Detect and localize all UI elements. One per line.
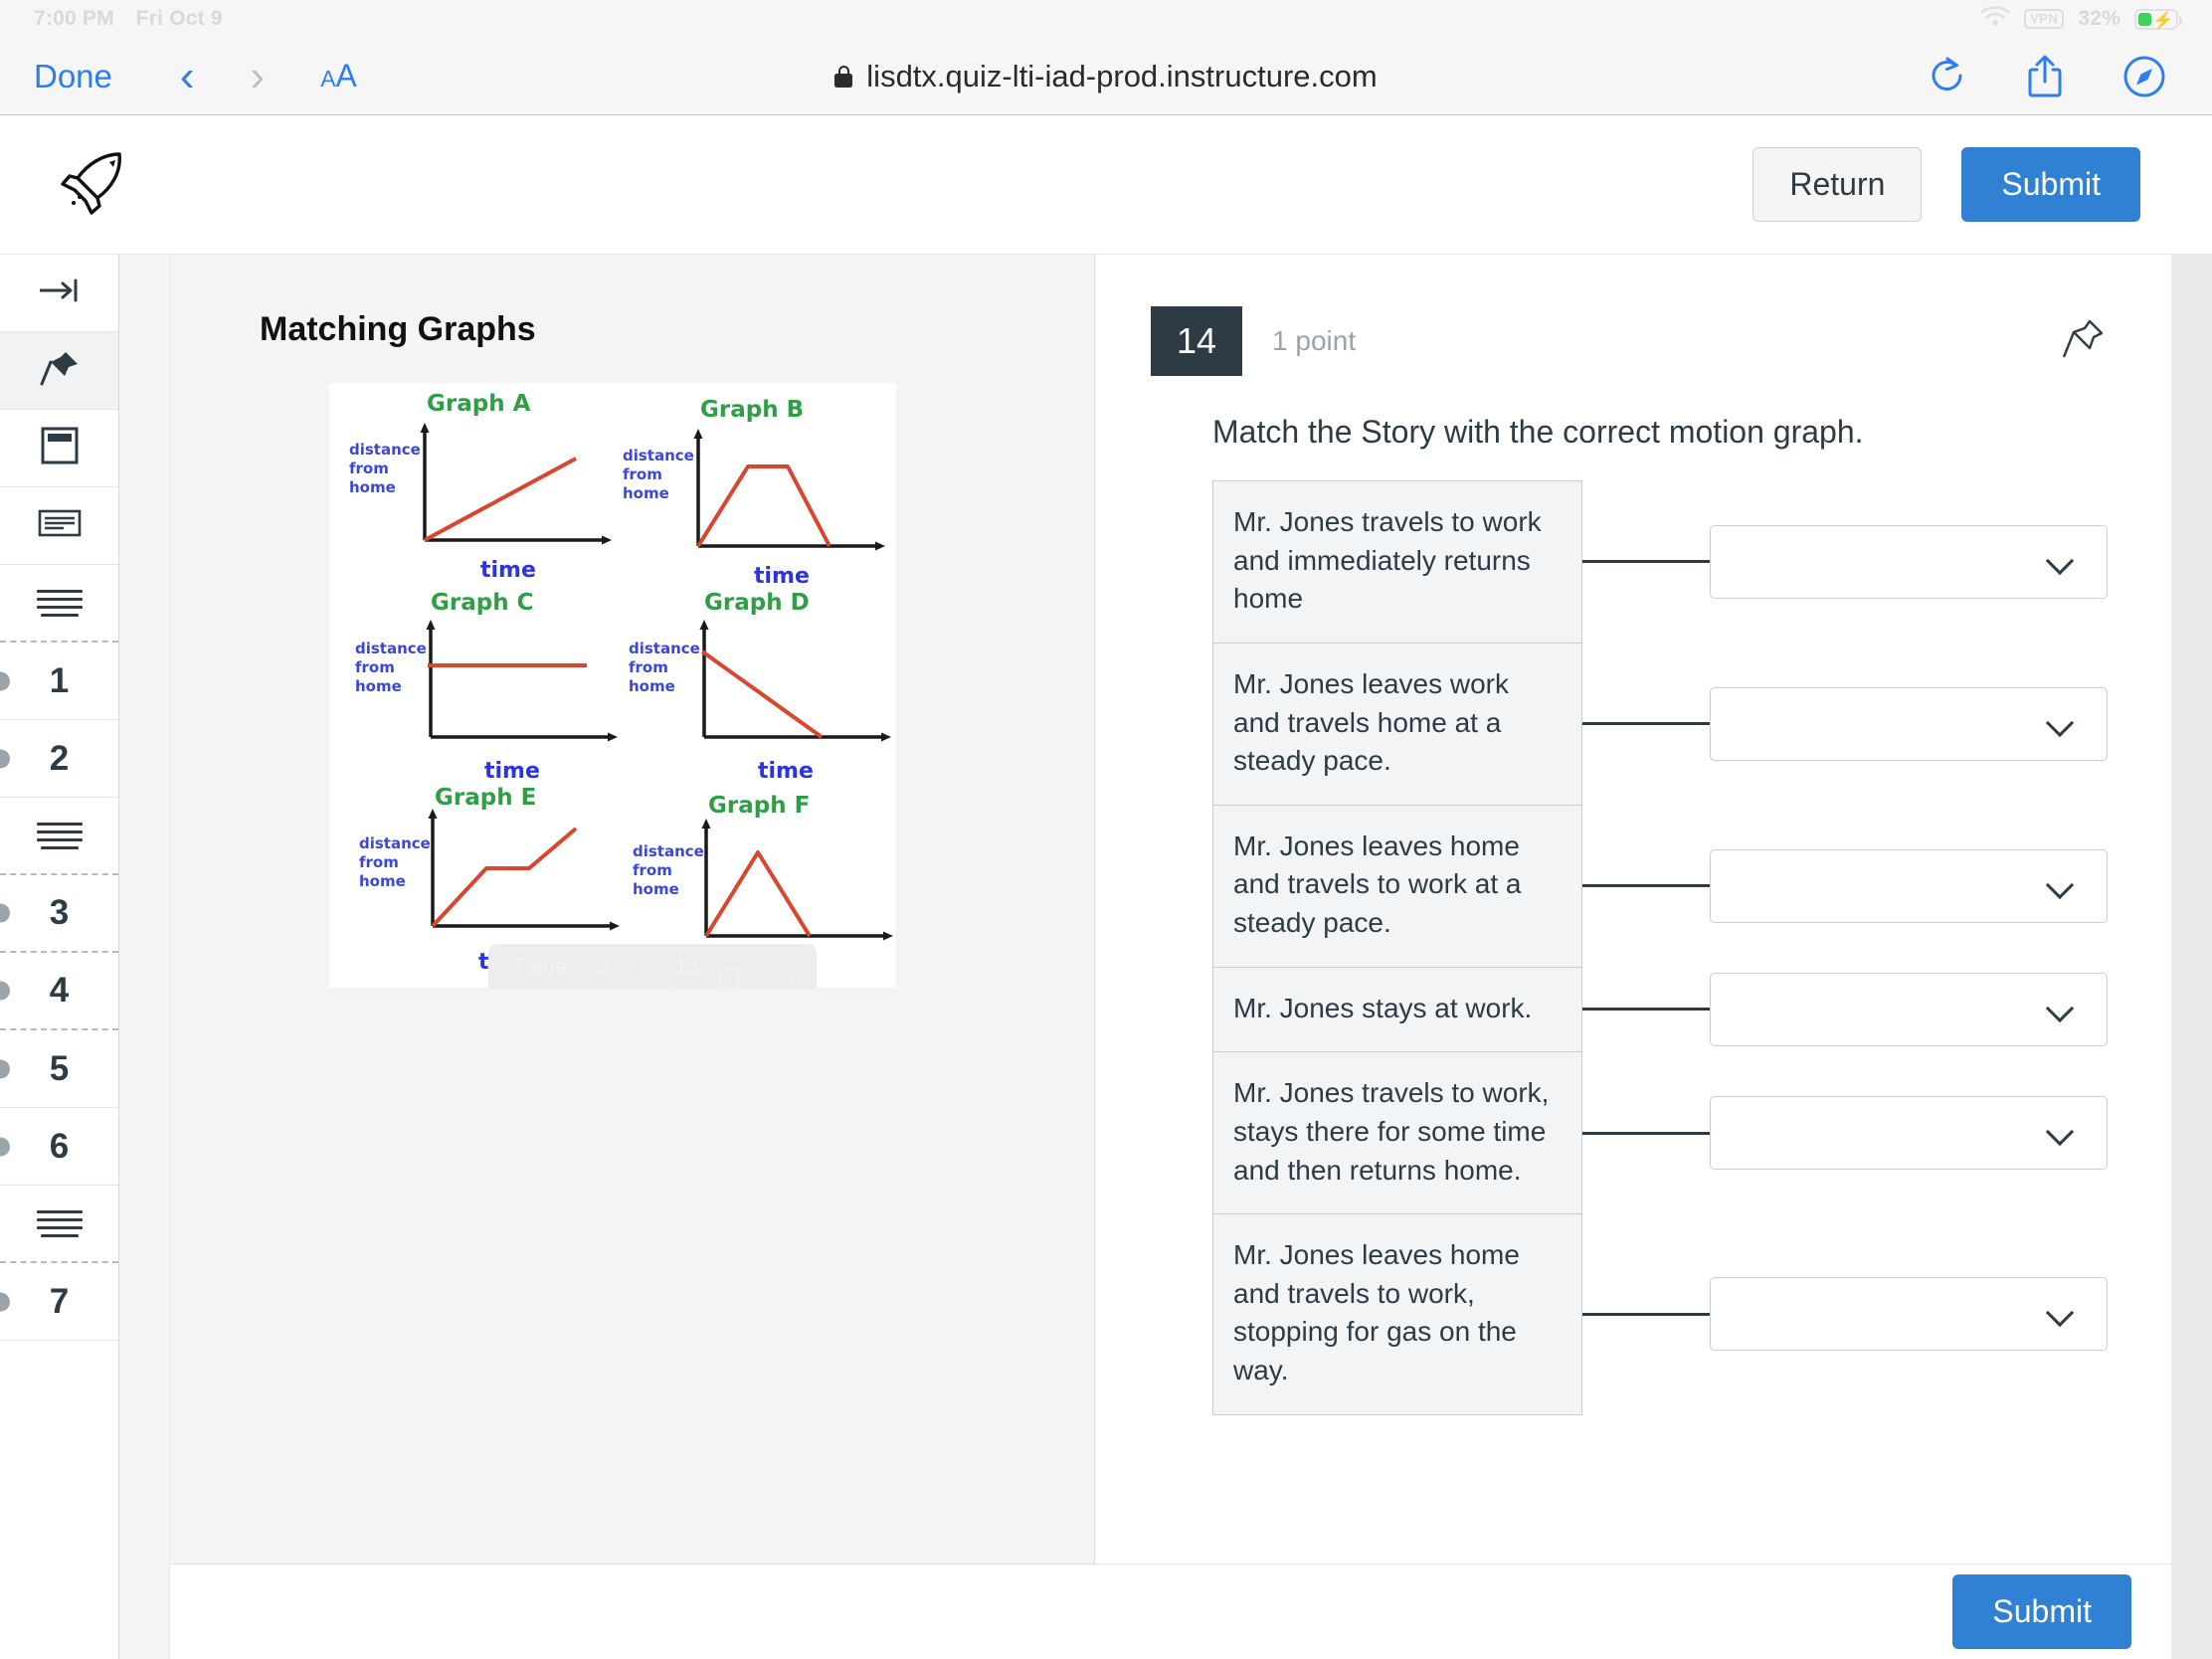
question-number: 14 xyxy=(1151,306,1242,376)
match-connector-line xyxy=(1582,722,1710,725)
question-pane: 14 1 point Match the Story with the corr… xyxy=(1095,255,2171,1564)
status-time: 7:00 PM xyxy=(34,7,114,31)
question-prompt: Match the Story with the correct motion … xyxy=(1212,414,2108,451)
text-size-button[interactable]: AA xyxy=(292,58,385,94)
graph-e-ylabel: distancefromhome xyxy=(359,834,431,890)
graph-d-title: Graph D xyxy=(704,590,810,616)
submit-button-bottom[interactable]: Submit xyxy=(1952,1574,2131,1649)
graph-c-ylabel: distancefromhome xyxy=(355,640,427,695)
graph-f-ylabel: distancefromhome xyxy=(633,842,704,898)
match-answers-column xyxy=(1582,480,2108,1414)
graph-d-xlabel: time xyxy=(758,759,814,784)
question-navigator-rail[interactable]: 1234567 xyxy=(0,255,119,1659)
text-size-large-a: A xyxy=(336,58,357,94)
rail-question-number: 2 xyxy=(50,739,69,779)
page-scrollbar[interactable] xyxy=(2172,255,2212,1659)
match-answer-row xyxy=(1582,525,2108,599)
rail-status-dot xyxy=(0,904,10,923)
match-prompts-column: Mr. Jones travels to work and immediatel… xyxy=(1212,480,1582,1414)
forward-button[interactable]: › xyxy=(223,55,293,98)
match-prompt: Mr. Jones leaves work and travels home a… xyxy=(1212,643,1582,806)
rail-question-7[interactable]: 7 xyxy=(0,1263,118,1341)
question-points: 1 point xyxy=(1272,325,1356,357)
match-answer-row xyxy=(1582,973,2108,1046)
graph-a-xlabel: time xyxy=(480,558,536,583)
graph-b-plot xyxy=(690,427,899,566)
rail-status-dot xyxy=(0,982,10,1001)
match-connector-line xyxy=(1582,1132,1710,1135)
collapse-panel-icon xyxy=(36,276,84,305)
matching-area: Mr. Jones travels to work and immediatel… xyxy=(1212,480,2108,1414)
match-answer-select[interactable] xyxy=(1710,1277,2108,1351)
quiz-header: Return Submit xyxy=(0,115,2212,255)
stimulus-title: Matching Graphs xyxy=(170,310,1094,349)
header-block-icon xyxy=(38,425,82,466)
chevron-down-icon xyxy=(2047,997,2073,1022)
chevron-down-icon xyxy=(2047,873,2073,899)
rail-question-number: 6 xyxy=(50,1127,69,1167)
rail-status-dot xyxy=(0,1137,10,1156)
pushpin-icon xyxy=(38,346,82,395)
battery-icon: ⚡ xyxy=(2134,9,2178,30)
match-answer-select[interactable] xyxy=(1710,1096,2108,1170)
pushpin-icon xyxy=(38,346,82,390)
pin-outline-icon[interactable] xyxy=(2060,315,2108,368)
text-block-icon xyxy=(36,506,84,545)
paragraph-lines-icon xyxy=(37,1210,83,1237)
pdf-zoom-icon xyxy=(719,968,741,990)
graph-f-title: Graph F xyxy=(708,793,810,819)
pdf-download-icon: ↓ xyxy=(787,966,798,990)
rail-paragraph-lines-icon[interactable] xyxy=(0,798,118,875)
collapse-panel-icon xyxy=(36,276,84,310)
pdf-page-total: 15 xyxy=(675,954,699,980)
rail-question-3[interactable]: 3 xyxy=(0,875,118,953)
vpn-badge: VPN xyxy=(2024,9,2064,29)
rail-question-4[interactable]: 4 xyxy=(0,953,118,1030)
quiz-content-card: Matching Graphs Graph A distancefromhome… xyxy=(169,255,2172,1564)
done-button[interactable]: Done xyxy=(34,58,152,95)
safari-compass-icon[interactable] xyxy=(2122,55,2166,98)
wifi-icon xyxy=(1980,5,2010,33)
match-prompt: Mr. Jones travels to work, stays there f… xyxy=(1212,1051,1582,1214)
graph-d-ylabel: distancefromhome xyxy=(629,640,700,695)
graph-c-xlabel: time xyxy=(484,759,540,784)
return-button[interactable]: Return xyxy=(1752,147,1922,222)
text-size-small-a: A xyxy=(320,66,335,92)
motion-graphs-figure: Graph A distancefromhome time Graph B di… xyxy=(329,383,896,988)
pdf-viewer-overlay: Page 9 / 15 ↓ xyxy=(488,944,817,990)
match-prompt: Mr. Jones travels to work and immediatel… xyxy=(1212,480,1582,644)
match-prompt: Mr. Jones stays at work. xyxy=(1212,967,1582,1053)
main-content: Matching Graphs Graph A distancefromhome… xyxy=(119,255,2212,1659)
reload-icon[interactable] xyxy=(1928,56,1967,97)
graph-c-plot xyxy=(423,618,632,757)
rail-question-number: 7 xyxy=(50,1282,69,1322)
battery-percent: 32% xyxy=(2078,7,2120,31)
match-answer-row xyxy=(1582,849,2108,923)
rail-status-dot xyxy=(0,1059,10,1078)
graph-b: Graph B distancefromhome time xyxy=(623,397,901,592)
rail-status-dot xyxy=(0,749,10,768)
match-answer-select[interactable] xyxy=(1710,525,2108,599)
match-answer-row xyxy=(1582,1096,2108,1170)
chevron-down-icon xyxy=(2047,1301,2073,1327)
status-date: Fri Oct 9 xyxy=(136,7,223,31)
share-icon[interactable] xyxy=(2025,54,2065,99)
text-block-icon xyxy=(36,506,84,540)
quiz-header-actions: Return Submit xyxy=(1752,147,2176,222)
question-topline: 14 1 point xyxy=(1151,306,2108,376)
rail-text-block-icon[interactable] xyxy=(0,487,118,565)
rail-question-6[interactable]: 6 xyxy=(0,1108,118,1186)
rail-question-number: 5 xyxy=(50,1049,69,1089)
ios-status-bar: 7:00 PM Fri Oct 9 VPN 32% ⚡ xyxy=(0,0,2212,38)
graph-a-plot xyxy=(417,421,626,560)
match-answer-row xyxy=(1582,1277,2108,1351)
match-answer-select[interactable] xyxy=(1710,973,2108,1046)
match-answer-select[interactable] xyxy=(1710,687,2108,761)
status-bar-right: VPN 32% ⚡ xyxy=(1980,5,2178,33)
graph-b-ylabel: distancefromhome xyxy=(623,447,694,502)
graph-f-plot xyxy=(698,817,907,956)
match-answer-select[interactable] xyxy=(1710,849,2108,923)
pdf-page-sep: / xyxy=(640,954,645,980)
paragraph-lines-icon xyxy=(37,823,83,849)
rail-status-dot xyxy=(0,1292,10,1311)
rail-header-block-icon[interactable] xyxy=(0,410,118,487)
match-prompt: Mr. Jones leaves home and travels to wor… xyxy=(1212,805,1582,968)
graph-d-plot xyxy=(696,618,905,757)
rail-paragraph-lines-icon[interactable] xyxy=(0,565,118,643)
graph-a: Graph A distancefromhome time xyxy=(349,391,628,586)
safari-toolbar-right xyxy=(1928,54,2178,99)
chevron-down-icon xyxy=(2047,549,2073,575)
paragraph-lines-icon xyxy=(37,590,83,617)
safari-toolbar: Done ‹ › AA lisdtx.quiz-lti-iad-prod.ins… xyxy=(0,38,2212,115)
graph-a-ylabel: distancefromhome xyxy=(349,441,421,496)
match-connector-line xyxy=(1582,1008,1710,1011)
rail-status-dot xyxy=(0,671,10,690)
quiz-footer: Submit xyxy=(169,1564,2172,1659)
rail-question-number: 1 xyxy=(50,661,69,701)
match-connector-line xyxy=(1582,560,1710,563)
lock-icon xyxy=(834,66,852,88)
rail-question-number: 3 xyxy=(50,893,69,933)
pdf-page-current: 9 xyxy=(597,954,609,980)
rail-collapse-panel-icon[interactable] xyxy=(0,255,118,332)
rail-question-number: 4 xyxy=(50,971,69,1011)
header-block-icon xyxy=(38,425,82,471)
match-connector-line xyxy=(1582,884,1710,887)
rail-paragraph-lines-icon[interactable] xyxy=(0,1186,118,1263)
graph-b-xlabel: time xyxy=(754,564,810,589)
graph-c: Graph C distancefromhome time xyxy=(349,590,628,785)
rocket-icon xyxy=(58,148,129,221)
rail-question-2[interactable]: 2 xyxy=(0,720,118,798)
rail-question-1[interactable]: 1 xyxy=(0,643,118,720)
url-text: lisdtx.quiz-lti-iad-prod.instructure.com xyxy=(866,59,1377,94)
graph-d: Graph D distancefromhome time xyxy=(623,590,901,785)
stimulus-pane: Matching Graphs Graph A distancefromhome… xyxy=(170,255,1095,1564)
graph-a-title: Graph A xyxy=(427,391,530,417)
graph-e-plot xyxy=(425,807,634,946)
rail-question-5[interactable]: 5 xyxy=(0,1030,118,1108)
chevron-down-icon xyxy=(2047,711,2073,737)
status-bar-left: 7:00 PM Fri Oct 9 xyxy=(34,7,223,31)
graph-b-title: Graph B xyxy=(700,397,804,423)
rail-pushpin-icon[interactable] xyxy=(0,332,118,410)
match-connector-line xyxy=(1582,1313,1710,1316)
submit-button-top[interactable]: Submit xyxy=(1961,147,2140,222)
match-answer-row xyxy=(1582,687,2108,761)
graph-c-title: Graph C xyxy=(431,590,533,616)
match-prompt: Mr. Jones leaves home and travels to wor… xyxy=(1212,1213,1582,1415)
pdf-page-label: Page xyxy=(516,954,567,980)
chevron-down-icon xyxy=(2047,1120,2073,1146)
back-button[interactable]: ‹ xyxy=(152,55,223,98)
